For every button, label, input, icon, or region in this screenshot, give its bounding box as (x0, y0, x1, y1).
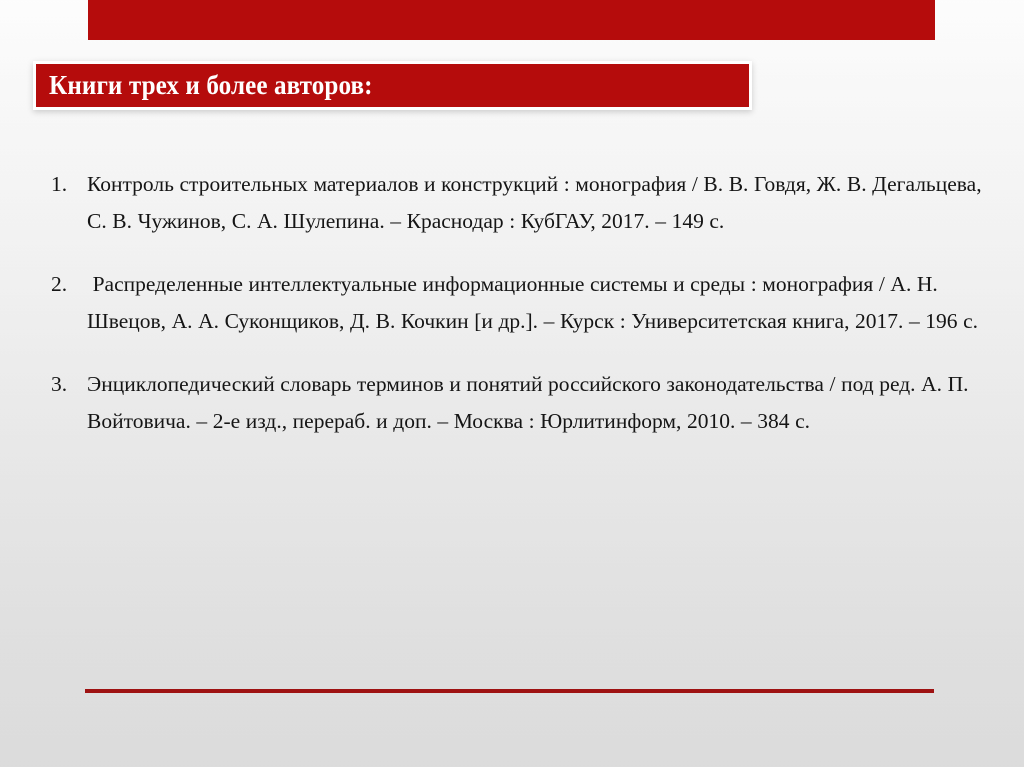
page-title: Книги трех и более авторов: (36, 72, 373, 99)
list-item: 3. Энциклопедический словарь терминов и … (45, 366, 1005, 440)
reference-list: 1. Контроль строительных материалов и ко… (45, 166, 1005, 440)
slide-canvas: Книги трех и более авторов: 1. Контроль … (0, 0, 1024, 767)
list-item-text: Энциклопедический словарь терминов и пон… (87, 366, 997, 440)
list-item-number: 3. (45, 366, 87, 403)
top-accent-bar (88, 0, 935, 40)
list-item-number: 2. (45, 266, 87, 303)
slide-title-plate: Книги трех и более авторов: (33, 61, 752, 110)
list-item: 2. Распределенные интеллектуальные инфор… (45, 266, 1005, 340)
list-item-text: Распределенные интеллектуальные информац… (87, 266, 997, 340)
list-item-number: 1. (45, 166, 87, 203)
bottom-accent-rule (85, 689, 934, 693)
list-item-text: Контроль строительных материалов и конст… (87, 166, 997, 240)
list-item: 1. Контроль строительных материалов и ко… (45, 166, 1005, 240)
